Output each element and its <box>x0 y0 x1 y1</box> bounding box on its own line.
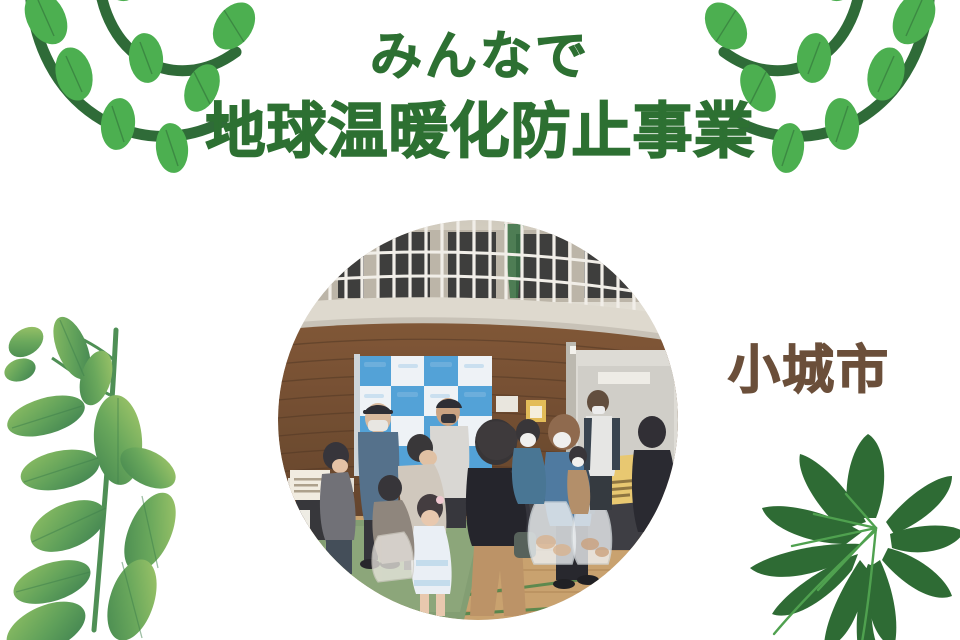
event-photo-image <box>278 220 678 620</box>
monstera-leaf-decoration <box>696 418 960 640</box>
event-photo <box>278 220 678 620</box>
monstera-leaf-icon <box>696 418 960 640</box>
leafy-branch-decoration <box>0 300 260 640</box>
leafy-branch-icon <box>0 300 260 640</box>
title-line-2: 地球温暖化防止事業 <box>0 96 960 168</box>
title-line-1: みんなで <box>0 28 960 86</box>
poster-canvas: みんなで 地球温暖化防止事業 小城市 <box>0 0 960 640</box>
poster-title: みんなで 地球温暖化防止事業 <box>0 28 960 168</box>
city-name-label: 小城市 <box>728 328 890 403</box>
